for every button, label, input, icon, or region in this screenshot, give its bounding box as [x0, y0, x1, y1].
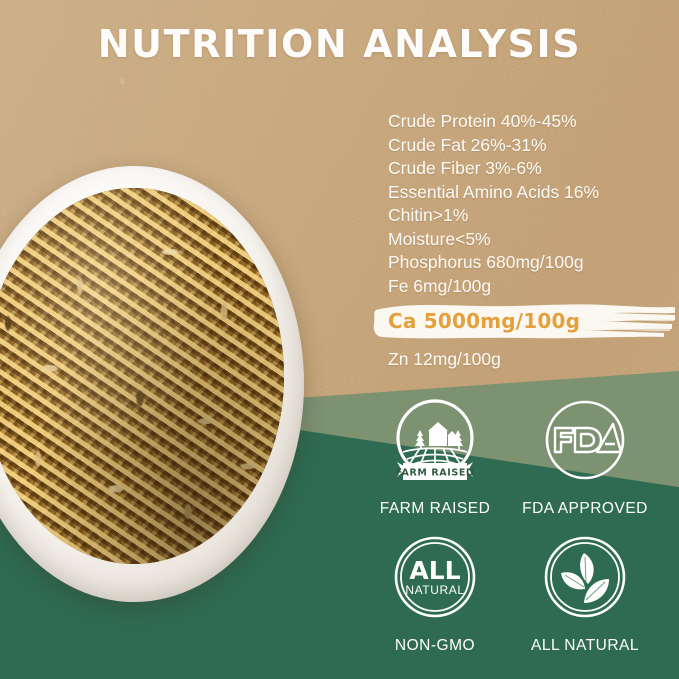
nutrition-item: Moisture<5% [388, 228, 676, 252]
calcium-value: Ca 5000mg/100g [388, 309, 580, 333]
badge-non-gmo: ALL NATURAL NON-GMO [360, 527, 510, 655]
bowl-contents [0, 188, 284, 564]
nutrition-item: Chitin>1% [388, 204, 676, 228]
all-label: ALL [409, 556, 460, 585]
dried-larvae-highlights [0, 188, 284, 564]
leaf-icon [535, 527, 635, 627]
product-image-bowl-of-larvae [0, 166, 304, 602]
nutrition-item: Essential Amino Acids 16% [388, 181, 676, 205]
natural-label: NATURAL [405, 583, 464, 597]
nutrition-item: Phosphorus 680mg/100g [388, 251, 676, 275]
zinc-value: Zn 12mg/100g [388, 349, 501, 370]
badge-caption: ALL NATURAL [510, 637, 660, 655]
calcium-highlight-row: Ca 5000mg/100g [372, 300, 679, 344]
nutrition-item: Crude Protein 40%-45% [388, 110, 676, 134]
badge-caption: FARM RAISED [360, 500, 510, 518]
fda-icon [535, 390, 635, 490]
badge-fda-approved: FDA APPROVED [510, 390, 660, 518]
badge-caption: FDA APPROVED [510, 500, 660, 518]
farm-barn-icon: FARM RAISED [385, 390, 485, 490]
badge-caption: NON-GMO [360, 637, 510, 655]
nutrition-item: Crude Fiber 3%-6% [388, 157, 676, 181]
nutrition-item: Fe 6mg/100g [388, 275, 676, 299]
nutrition-item: Crude Fat 26%-31% [388, 134, 676, 158]
nutrition-list: Crude Protein 40%-45% Crude Fat 26%-31% … [388, 110, 676, 298]
infographic-page: NUTRITION ANALYSIS Crude Protein 40%-45%… [0, 0, 679, 679]
farm-ribbon-label: FARM RAISED [396, 467, 475, 478]
badge-farm-raised: FARM RAISED FARM RAISED [360, 390, 510, 518]
farm-ribbon-banner: FARM RAISED [396, 462, 475, 480]
page-title: NUTRITION ANALYSIS [0, 22, 679, 66]
all-natural-text-icon: ALL NATURAL [385, 527, 485, 627]
badge-all-natural: ALL NATURAL [510, 527, 660, 655]
